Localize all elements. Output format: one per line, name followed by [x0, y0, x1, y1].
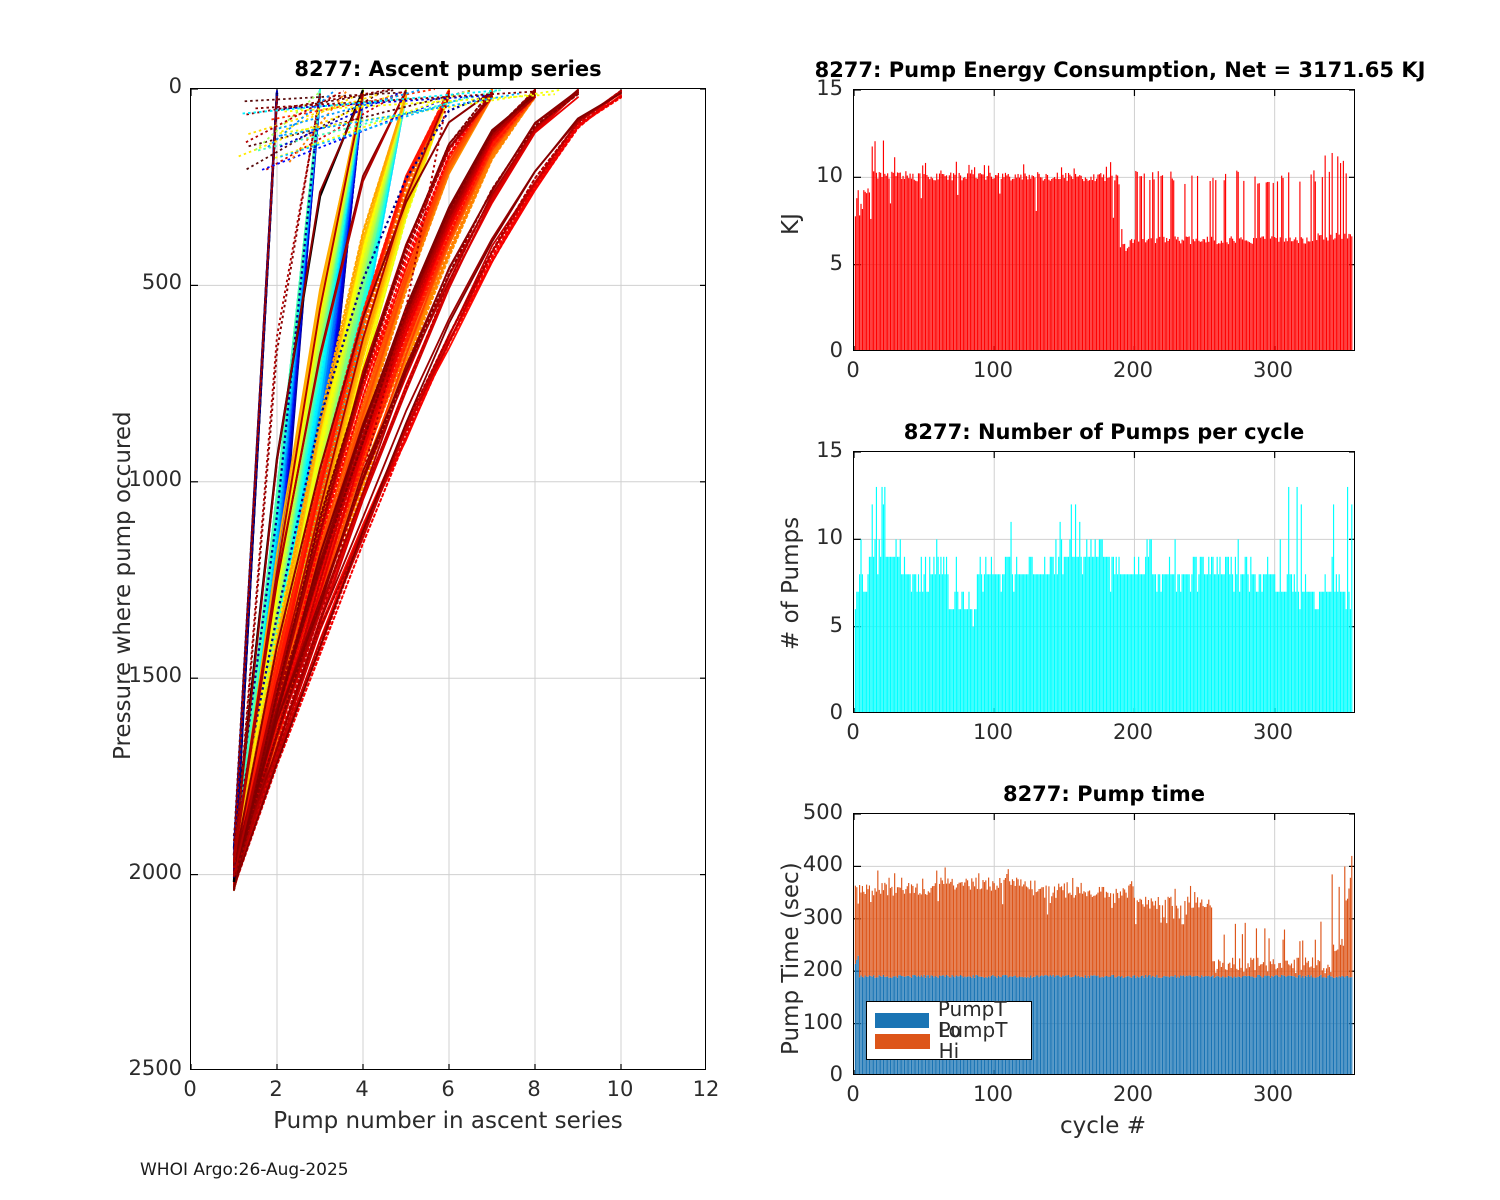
pumptime-xtick-0: 0 [823, 1082, 883, 1106]
legend-swatch-pumpt-lo [875, 1013, 929, 1028]
ascent-plot-area [190, 88, 706, 1070]
ascent-ytick-0: 0 [120, 74, 182, 98]
legend-item-pumpt-hi[interactable]: PumpT Hi [875, 1031, 1023, 1052]
ascent-xtick-2: 2 [246, 1077, 306, 1101]
energy-ytick-10: 10 [785, 163, 843, 187]
ascent-title: 8277: Ascent pump series [190, 57, 706, 81]
ascent-ytick-500: 500 [120, 270, 182, 294]
pumptime-title: 8277: Pump time [853, 782, 1355, 806]
pumps-xtick-100: 100 [963, 720, 1023, 744]
legend-swatch-pumpt-hi [875, 1034, 930, 1049]
pumps-bars [854, 452, 1355, 713]
ascent-xtick-10: 10 [590, 1077, 650, 1101]
energy-ytick-5: 5 [785, 251, 843, 275]
energy-plot-area [853, 89, 1355, 351]
energy-xtick-100: 100 [963, 358, 1023, 382]
energy-xtick-0: 0 [823, 358, 883, 382]
pumps-plot-area [853, 451, 1355, 713]
ascent-yaxis-label: Pressure where pump occured [110, 411, 136, 760]
figure-canvas: 8277: Ascent pump series 0 500 1000 1500… [0, 0, 1500, 1200]
ascent-xtick-8: 8 [504, 1077, 564, 1101]
ascent-xtick-4: 4 [332, 1077, 392, 1101]
ascent-xtick-0: 0 [160, 1077, 220, 1101]
legend-label-pumpt-hi: PumpT Hi [939, 1020, 1023, 1062]
pumptime-xtick-300: 300 [1243, 1082, 1303, 1106]
energy-ytick-15: 15 [785, 76, 843, 100]
pumptime-xtick-100: 100 [963, 1082, 1023, 1106]
ascent-xtick-12: 12 [676, 1077, 736, 1101]
pumps-yaxis-label: # of Pumps [778, 517, 804, 650]
pumps-ytick-15: 15 [785, 438, 843, 462]
footer-credit: WHOI Argo:26-Aug-2025 [140, 1160, 349, 1180]
energy-bars [854, 90, 1355, 351]
ascent-trajectories [191, 89, 706, 1070]
energy-yaxis-label: KJ [778, 213, 804, 235]
pumptime-ytick-500: 500 [785, 800, 843, 824]
energy-xtick-300: 300 [1243, 358, 1303, 382]
pumps-title: 8277: Number of Pumps per cycle [853, 420, 1355, 444]
pumptime-legend[interactable]: PumpT Lo PumpT Hi [866, 1001, 1032, 1060]
pumps-xtick-200: 200 [1103, 720, 1163, 744]
pumps-xtick-300: 300 [1243, 720, 1303, 744]
pumptime-xtick-200: 200 [1103, 1082, 1163, 1106]
ascent-xaxis-label: Pump number in ascent series [200, 1108, 696, 1134]
ascent-ytick-2000: 2000 [120, 860, 182, 884]
ascent-xtick-6: 6 [418, 1077, 478, 1101]
energy-xtick-200: 200 [1103, 358, 1163, 382]
energy-title: 8277: Pump Energy Consumption, Net = 317… [760, 58, 1480, 82]
pumptime-xaxis-label: cycle # [953, 1113, 1253, 1139]
pumptime-yaxis-label: Pump Time (sec) [778, 862, 804, 1055]
pumps-xtick-0: 0 [823, 720, 883, 744]
